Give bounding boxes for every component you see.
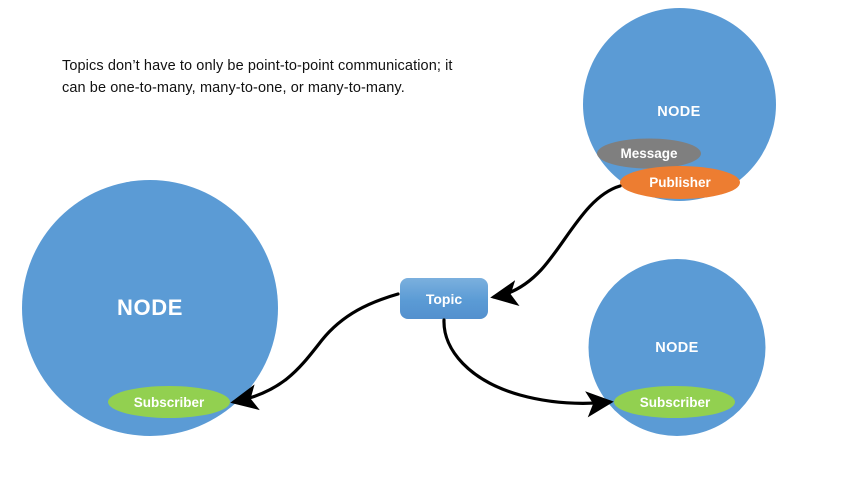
- subscriber-right-ellipse[interactable]: [614, 386, 735, 418]
- caption-text: Topics don’t have to only be point-to-po…: [62, 55, 482, 100]
- arrow-topic-to-subscriber-right: [444, 320, 610, 403]
- arrow-publisher-to-topic: [494, 186, 620, 297]
- slide-canvas: Topics don’t have to only be point-to-po…: [0, 0, 854, 480]
- caption-line-1: Topics don’t have to only be point-to-po…: [62, 55, 482, 77]
- caption-line-2: can be one-to-many, many-to-one, or many…: [62, 77, 482, 99]
- publisher-ellipse[interactable]: [620, 166, 740, 199]
- topic-box[interactable]: [400, 278, 488, 319]
- subscriber-left-ellipse[interactable]: [108, 386, 230, 418]
- message-ellipse[interactable]: [597, 139, 701, 169]
